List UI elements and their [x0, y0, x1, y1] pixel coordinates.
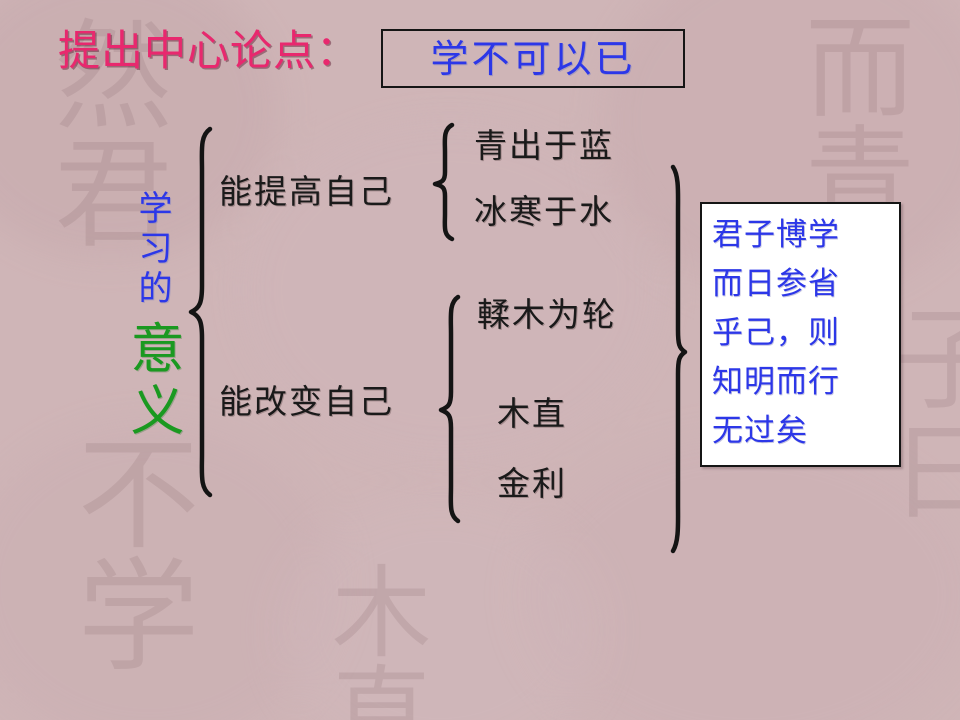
topic-label-top: 学习的 — [135, 190, 169, 310]
branch-2-example-3: 金利 — [497, 467, 567, 500]
conclusion-quote-lines: 君子博学 而日参省 乎己，则 知明而行 无过矣 — [712, 212, 893, 456]
branch-2-example-2: 木直 — [497, 397, 567, 430]
conclusion-line-4: 知明而行 — [712, 359, 893, 406]
branch-1-label: 能提高自己 — [219, 175, 394, 208]
branch-1-brace-icon — [431, 122, 457, 242]
thesis-box: 学不可以已 — [381, 29, 685, 88]
thesis-text: 学不可以已 — [383, 31, 683, 86]
branch-1-example-2: 冰寒于水 — [474, 195, 614, 228]
conclusion-line-1: 君子博学 — [712, 212, 893, 259]
conclusion-line-5: 无过矣 — [712, 408, 893, 455]
watermark-glyph-5: 木直 — [300, 560, 445, 720]
page-title: 提出中心论点： — [58, 30, 359, 72]
branch-2-example-1: 輮木为轮 — [477, 298, 617, 331]
conclusion-quote-box: 君子博学 而日参省 乎己，则 知明而行 无过矣 — [700, 202, 901, 467]
topic-vertical-label: 学习的 意义 — [112, 190, 192, 444]
slide-canvas: 然君 而青 子曰 不学 木直 提出中心论点： 学不可以已 学习的 意义 能提高自… — [0, 0, 960, 720]
branch-2-label: 能改变自己 — [219, 385, 394, 418]
conclusion-line-3: 乎己，则 — [712, 310, 893, 357]
topic-label-bottom: 意义 — [125, 320, 179, 444]
watermark-glyph-2: 而青 — [770, 10, 930, 230]
branch-2-brace-icon — [437, 294, 463, 524]
conclusion-brace-icon — [664, 164, 690, 554]
watermark-glyph-4: 不学 — [40, 430, 217, 674]
branch-1-example-1: 青出于蓝 — [474, 129, 614, 162]
conclusion-line-2: 而日参省 — [712, 261, 893, 308]
